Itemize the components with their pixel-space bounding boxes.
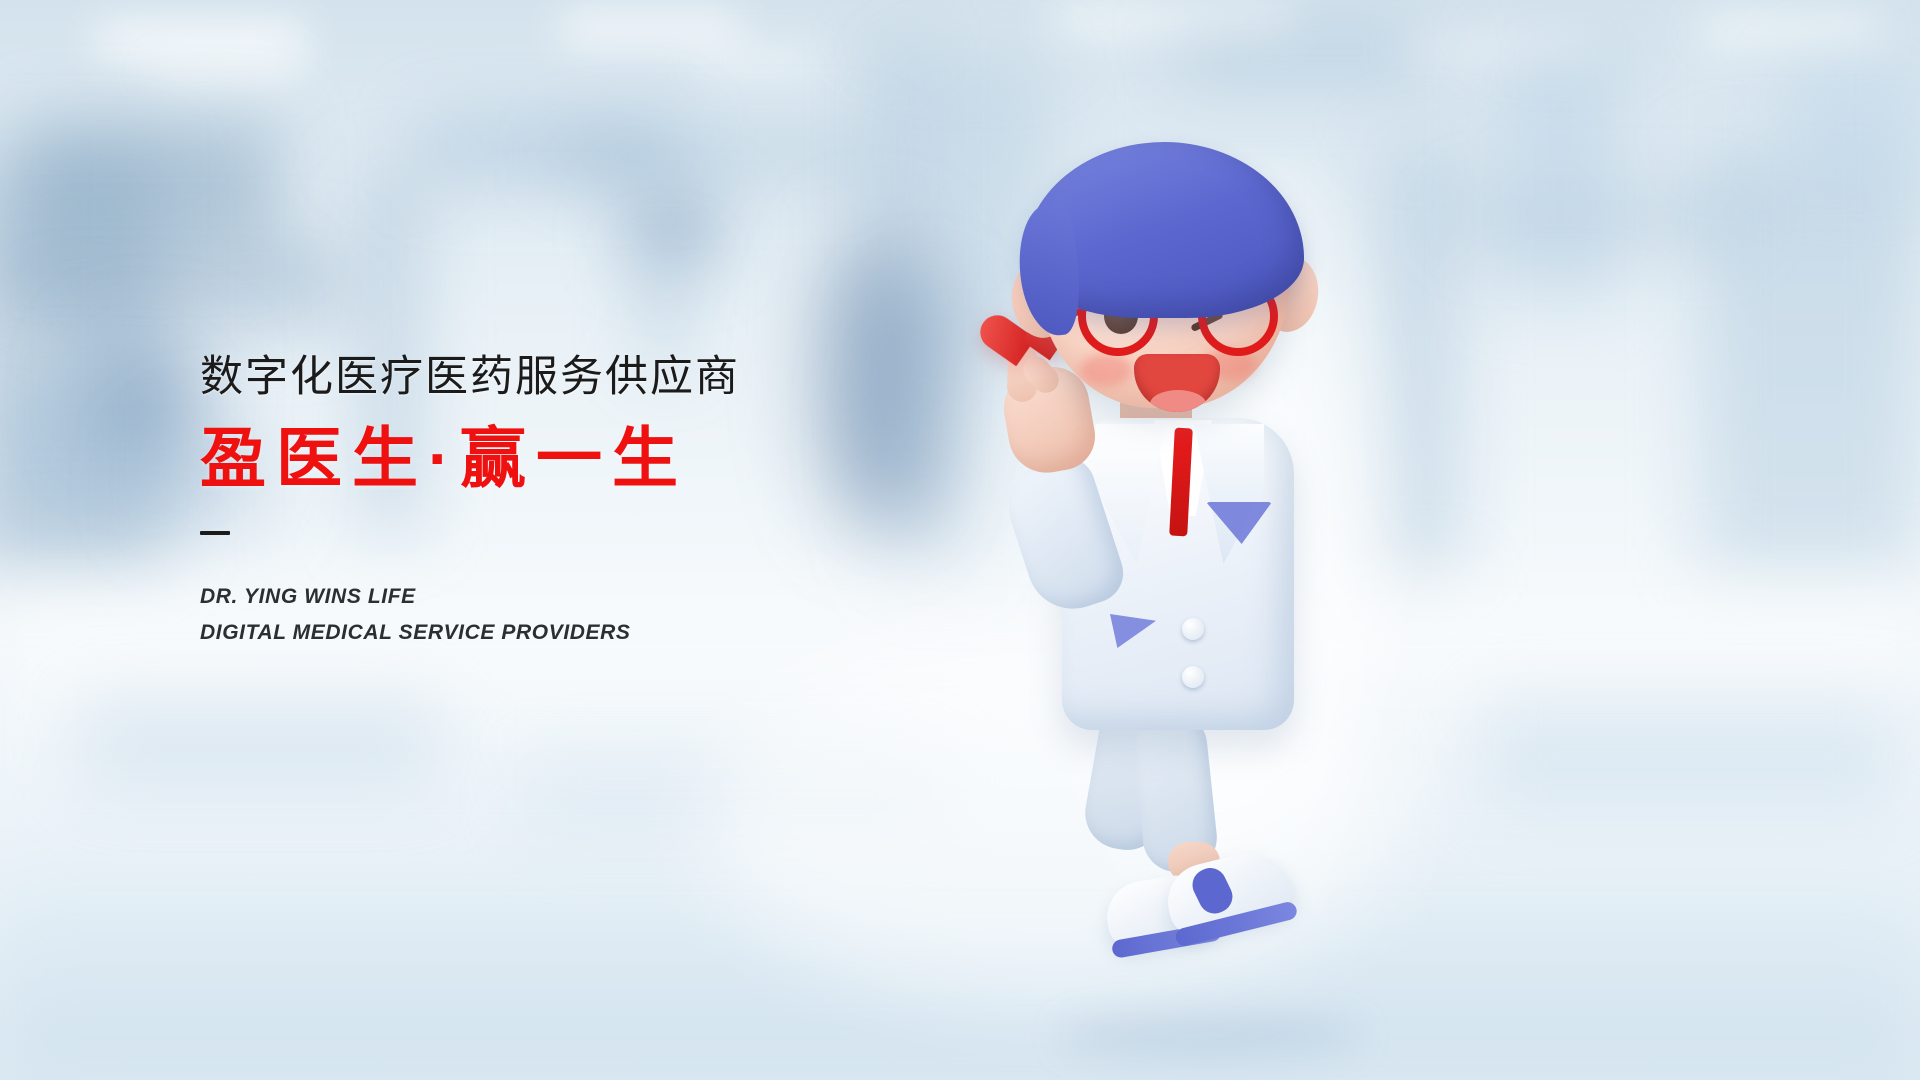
floor-reflection <box>1480 700 1900 810</box>
background-shape <box>20 120 280 250</box>
character-head <box>1028 144 1300 412</box>
hero-banner: 数字化医疗医药服务供应商 盈医生·赢一生 DR. YING WINS LIFE … <box>0 0 1920 1080</box>
shoe-strap <box>1187 863 1238 919</box>
floor-reflection <box>80 700 440 790</box>
ceiling-light <box>150 62 300 84</box>
background-shape <box>650 255 680 365</box>
coat-button <box>1182 618 1204 640</box>
character-floor-shadow <box>1060 1016 1360 1056</box>
page-title: 盈医生·赢一生 <box>200 421 1100 497</box>
divider-rule <box>200 531 230 535</box>
character-mouth <box>1134 354 1220 412</box>
ceiling-light <box>1700 18 1880 44</box>
ceiling-light <box>96 26 306 56</box>
background-shape <box>40 300 340 334</box>
ceiling-light <box>700 52 820 70</box>
doctor-character-illustration <box>1000 40 1420 1050</box>
background-shape <box>560 140 880 174</box>
hero-copy: 数字化医疗医药服务供应商 盈医生·赢一生 DR. YING WINS LIFE … <box>200 352 1100 651</box>
background-shape <box>1500 40 1620 300</box>
background-shape <box>0 250 340 296</box>
coat-button <box>1182 666 1204 688</box>
coat-accent-stripe <box>1110 614 1156 648</box>
ceiling-light <box>560 16 740 42</box>
character-tongue <box>1150 390 1206 412</box>
subtitle-line-2: DIGITAL MEDICAL SERVICE PROVIDERS <box>200 615 1100 651</box>
ceiling-light <box>1050 8 1290 32</box>
character-cheek-blush-left <box>1080 354 1132 386</box>
page-headline: 数字化医疗医药服务供应商 <box>200 352 1100 403</box>
subtitle-line-1: DR. YING WINS LIFE <box>200 579 1100 615</box>
background-shape <box>1790 60 1920 180</box>
subtitle-group: DR. YING WINS LIFE DIGITAL MEDICAL SERVI… <box>200 579 1100 651</box>
background-shape <box>1700 150 1920 570</box>
background-shape <box>630 200 716 260</box>
character-lapel-right <box>1194 424 1264 564</box>
